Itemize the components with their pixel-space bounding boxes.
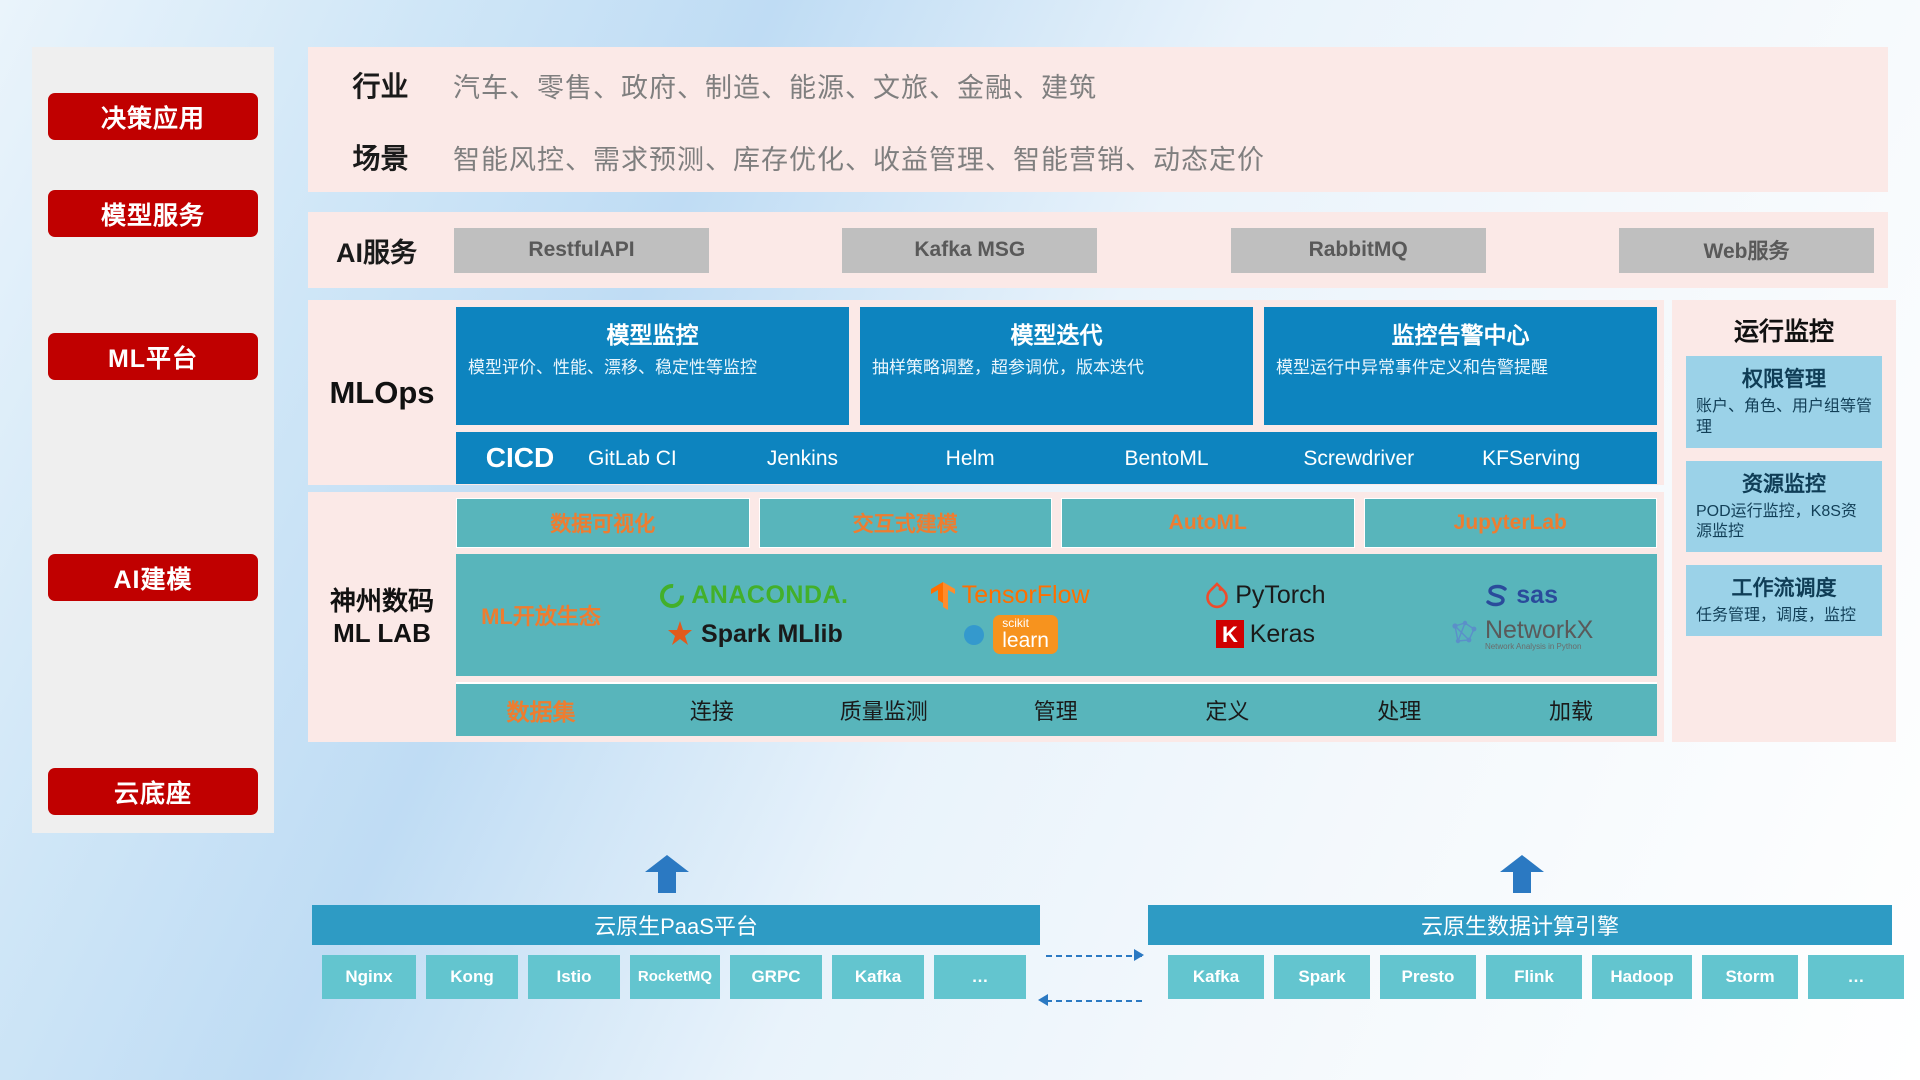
chip-label: RestfulAPI [528, 238, 634, 262]
dataset-item-process[interactable]: 处理 [1313, 694, 1485, 726]
monitor-card-resource[interactable]: 资源监控 POD运行监控，K8S资源监控 [1686, 461, 1882, 553]
logo-text: Spark MLlib [701, 620, 843, 649]
engine-chip-presto[interactable]: Presto [1380, 955, 1476, 999]
logo-text: sas [1516, 581, 1558, 610]
industry-row: 行业 汽车、零售、政府、制造、能源、文旅、金融、建筑 [308, 49, 1888, 121]
scenario-row: 场景 智能风控、需求预测、库存优化、收益管理、智能营销、动态定价 [308, 121, 1888, 193]
chip-label: Hadoop [1610, 968, 1673, 986]
chip-label: Storm [1725, 968, 1774, 986]
layer-tag-label: ML平台 [108, 339, 198, 375]
logo-text: learn [1002, 630, 1049, 652]
mlops-card-model-monitoring[interactable]: 模型监控 模型评价、性能、漂移、稳定性等监控 [456, 307, 849, 425]
ml-lab-label: 神州数码 ML LAB [308, 492, 456, 742]
scikit-learn-logo: scikit learn [961, 615, 1058, 654]
dashed-arrow-right [1134, 949, 1144, 961]
tensorflow-logo: TensorFlow [930, 581, 1090, 611]
paas-chip-rocketmq[interactable]: RocketMQ [630, 955, 720, 999]
chip-label: Spark [1298, 968, 1345, 986]
layer-tag-label: 云底座 [114, 774, 192, 810]
chip-label: RabbitMQ [1309, 238, 1408, 262]
paas-chip-kong[interactable]: Kong [426, 955, 518, 999]
cicd-item-label: BentoML [1124, 447, 1208, 470]
card-desc: 任务管理，调度，监控 [1696, 606, 1872, 627]
industry-label: 行业 [308, 65, 453, 105]
cloud-native-data-engine-bar[interactable]: 云原生数据计算引擎 [1148, 905, 1892, 945]
chip-label: RocketMQ [638, 969, 712, 985]
ai-service-chip-rabbitmq[interactable]: RabbitMQ [1231, 228, 1486, 273]
chip-label: Istio [557, 968, 592, 986]
dataset-item-connect[interactable]: 连接 [626, 694, 798, 726]
layer-tag-decision[interactable]: 决策应用 [48, 93, 258, 140]
logo-text: Keras [1250, 620, 1315, 649]
layer-tag-label: 模型服务 [101, 196, 205, 232]
dataset-item-label: 连接 [690, 699, 734, 724]
engine-chip-more[interactable]: … [1808, 955, 1904, 999]
scenario-label: 场景 [308, 137, 453, 177]
tab-label: AutoML [1169, 511, 1247, 535]
dataset-item-manage[interactable]: 管理 [970, 694, 1142, 726]
engine-chip-spark[interactable]: Spark [1274, 955, 1370, 999]
cloud-bar-label: 云原生PaaS平台 [594, 909, 758, 941]
dataset-item-label: 加载 [1549, 699, 1593, 724]
dataset-item-label: 质量监测 [840, 699, 928, 724]
engine-chip-hadoop[interactable]: Hadoop [1592, 955, 1692, 999]
logo-text: PyTorch [1235, 581, 1325, 610]
paas-chip-kafka[interactable]: Kafka [832, 955, 924, 999]
dataset-bar: 数据集 连接 质量监测 管理 定义 处理 加载 [456, 682, 1657, 736]
paas-chip-nginx[interactable]: Nginx [322, 955, 416, 999]
chip-label: Kong [450, 968, 493, 986]
ai-service-band: AI服务 RestfulAPI Kafka MSG RabbitMQ Web服务 [308, 212, 1888, 288]
chip-label: Flink [1514, 968, 1554, 986]
cloud-native-paas-bar[interactable]: 云原生PaaS平台 [312, 905, 1040, 945]
tab-label: JupyterLab [1454, 511, 1567, 535]
tab-label: 数据可视化 [550, 508, 655, 538]
engine-chip-storm[interactable]: Storm [1702, 955, 1798, 999]
keras-logo: K Keras [1216, 620, 1315, 649]
dashed-connector-right [1046, 955, 1142, 957]
dataset-item-load[interactable]: 加载 [1485, 694, 1657, 726]
chip-label: GRPC [751, 968, 800, 986]
tab-label: 交互式建模 [853, 508, 958, 538]
card-title: 资源监控 [1696, 468, 1872, 498]
cicd-item-label: Jenkins [767, 447, 838, 470]
spark-mllib-logo: Spark MLlib [665, 619, 843, 649]
chip-label: Web服务 [1704, 235, 1790, 265]
card-desc: 抽样策略调整，超参调优，版本迭代 [872, 357, 1241, 380]
sas-logo: sas [1484, 581, 1558, 610]
logo-text-top: scikit [1002, 617, 1049, 630]
ml-lab-label-line2: ML LAB [330, 617, 434, 650]
anaconda-logo: ANACONDA. [659, 581, 848, 610]
ai-service-chip-web-service[interactable]: Web服务 [1619, 228, 1874, 273]
arrow-up-paas [645, 855, 689, 893]
chip-label: … [972, 968, 989, 986]
cicd-item-kfserving[interactable]: KFServing [1478, 445, 1657, 472]
cicd-item-label: GitLab CI [588, 447, 677, 470]
chip-label: Kafka [1193, 968, 1239, 986]
engine-chip-row: Kafka Spark Presto Flink Hadoop Storm … [1168, 955, 1904, 999]
cicd-item-label: Screwdriver [1303, 447, 1414, 470]
networkx-logo: NetworkX Network Analysis in Python [1449, 618, 1593, 651]
logo-text: TensorFlow [962, 581, 1090, 610]
ml-open-ecosystem-label: ML开放生态 [456, 599, 626, 631]
dataset-item-label: 处理 [1377, 699, 1421, 724]
industry-values: 汽车、零售、政府、制造、能源、文旅、金融、建筑 [453, 66, 1097, 105]
ai-service-label: AI服务 [336, 231, 454, 270]
logo-text: NetworkX [1485, 618, 1593, 643]
cicd-item-bentoml[interactable]: BentoML [1120, 445, 1299, 472]
paas-chip-istio[interactable]: Istio [528, 955, 620, 999]
cicd-item-label: Helm [946, 447, 995, 470]
chip-label: Presto [1402, 968, 1455, 986]
lab-tab-data-visualization[interactable]: 数据可视化 [456, 498, 750, 548]
card-desc: 模型评价、性能、漂移、稳定性等监控 [468, 357, 837, 380]
ml-lab-label-line1: 神州数码 [330, 585, 434, 618]
dataset-label: 数据集 [456, 693, 626, 727]
cicd-item-screwdriver[interactable]: Screwdriver [1299, 445, 1478, 472]
mlops-band: MLOps 模型监控 模型评价、性能、漂移、稳定性等监控 模型迭代 抽样策略调整… [308, 300, 1664, 485]
card-desc: POD运行监控，K8S资源监控 [1696, 502, 1872, 544]
card-desc: 模型运行中异常事件定义和告警提醒 [1276, 357, 1645, 380]
dashed-arrow-left [1038, 994, 1048, 1006]
ml-lab-band: 神州数码 ML LAB 数据可视化 交互式建模 AutoML JupyterLa… [308, 492, 1664, 742]
layer-tag-label: 决策应用 [101, 99, 205, 135]
card-title: 权限管理 [1696, 363, 1872, 393]
lab-tab-jupyterlab[interactable]: JupyterLab [1364, 498, 1658, 548]
ai-service-chip-kafka-msg[interactable]: Kafka MSG [842, 228, 1097, 273]
monitor-card-workflow[interactable]: 工作流调度 任务管理，调度，监控 [1686, 565, 1882, 636]
left-layer-rail [32, 47, 274, 833]
engine-chip-flink[interactable]: Flink [1486, 955, 1582, 999]
mlops-label: MLOps [308, 300, 456, 485]
layer-tag-ml-platform[interactable]: ML平台 [48, 333, 258, 380]
cloud-bar-label: 云原生数据计算引擎 [1421, 909, 1619, 941]
engine-chip-kafka[interactable]: Kafka [1168, 955, 1264, 999]
chip-label: Nginx [345, 968, 392, 986]
dataset-item-quality[interactable]: 质量监测 [798, 694, 970, 726]
chip-label: Kafka MSG [914, 238, 1025, 262]
cicd-bar: CICD GitLab CI Jenkins Helm BentoML Scre… [456, 432, 1657, 484]
cicd-item-helm[interactable]: Helm [942, 445, 1121, 472]
mlops-card-model-iteration[interactable]: 模型迭代 抽样策略调整，超参调优，版本迭代 [860, 307, 1253, 425]
layer-tag-ai-modeling[interactable]: AI建模 [48, 554, 258, 601]
cicd-item-label: KFServing [1482, 447, 1580, 470]
cicd-label: CICD [456, 442, 584, 474]
dataset-item-label: 管理 [1034, 699, 1078, 724]
paas-chip-row: Nginx Kong Istio RocketMQ GRPC Kafka … [322, 955, 1026, 999]
runtime-monitoring-column: 运行监控 权限管理 账户、角色、用户组等管理 资源监控 POD运行监控，K8S资… [1672, 300, 1896, 742]
card-title: 模型监控 [468, 316, 837, 350]
card-desc: 账户、角色、用户组等管理 [1696, 397, 1872, 439]
industry-scenario-band: 行业 汽车、零售、政府、制造、能源、文旅、金融、建筑 场景 智能风控、需求预测、… [308, 47, 1888, 192]
lab-tab-automl[interactable]: AutoML [1061, 498, 1355, 548]
chip-label: … [1848, 968, 1865, 986]
dashed-connector-left [1046, 1000, 1142, 1002]
lab-tab-interactive-modeling[interactable]: 交互式建模 [759, 498, 1053, 548]
card-title: 工作流调度 [1696, 572, 1872, 602]
cicd-item-gitlab-ci[interactable]: GitLab CI [584, 445, 763, 472]
card-title: 监控告警中心 [1276, 316, 1645, 350]
runtime-monitoring-title: 运行监控 [1672, 300, 1896, 356]
arrow-up-engine [1500, 855, 1544, 893]
pytorch-logo: PyTorch [1205, 581, 1325, 610]
layer-tag-cloud-base[interactable]: 云底座 [48, 768, 258, 815]
scenario-values: 智能风控、需求预测、库存优化、收益管理、智能营销、动态定价 [453, 138, 1265, 177]
paas-chip-grpc[interactable]: GRPC [730, 955, 822, 999]
ai-service-chip-restfulapi[interactable]: RestfulAPI [454, 228, 709, 273]
layer-tag-model-service[interactable]: 模型服务 [48, 190, 258, 237]
layer-tag-label: AI建模 [113, 560, 192, 596]
monitor-card-permission[interactable]: 权限管理 账户、角色、用户组等管理 [1686, 356, 1882, 448]
ml-open-ecosystem: ML开放生态 ANACONDA. TensorFlow [456, 554, 1657, 676]
dataset-item-define[interactable]: 定义 [1141, 694, 1313, 726]
logo-subtitle: Network Analysis in Python [1485, 643, 1593, 651]
mlops-card-alert-center[interactable]: 监控告警中心 模型运行中异常事件定义和告警提醒 [1264, 307, 1657, 425]
card-title: 模型迭代 [872, 316, 1241, 350]
dataset-item-label: 定义 [1205, 699, 1249, 724]
logo-text: ANACONDA. [691, 581, 848, 610]
paas-chip-more[interactable]: … [934, 955, 1026, 999]
svg-text:K: K [1222, 622, 1238, 647]
chip-label: Kafka [855, 968, 901, 986]
cicd-item-jenkins[interactable]: Jenkins [763, 445, 942, 472]
